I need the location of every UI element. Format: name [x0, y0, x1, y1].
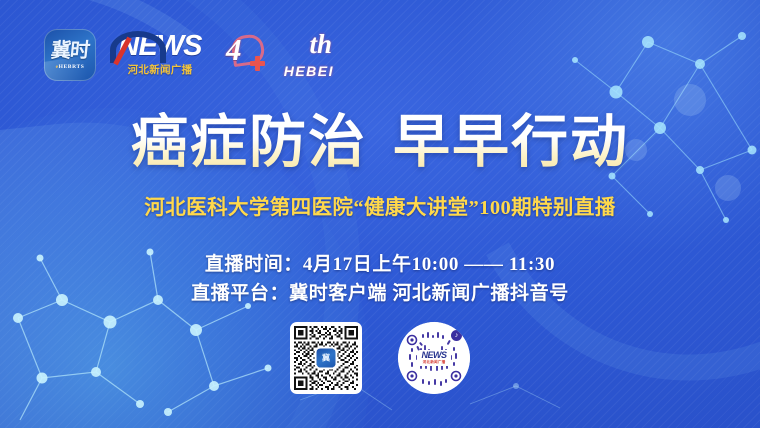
- douyin-qr-center-logo: NEWS 河北新闻广播: [417, 350, 451, 366]
- douyin-qr-code[interactable]: NEWS 河北新闻广播 ♪: [398, 322, 470, 394]
- jishi-logo: 冀时 eHEBRTS: [44, 29, 96, 81]
- fourth-hospital-logo: 4 th HEBEI: [224, 30, 336, 80]
- jishi-app-qr-code[interactable]: 冀: [290, 322, 362, 394]
- jishi-logo-en: eHEBRTS: [56, 64, 85, 70]
- broadcast-time-line: 直播时间：4月17日上午10:00 —— 11:30: [0, 250, 760, 279]
- qr-code-row: 冀: [0, 322, 760, 394]
- page-title-part2: 早早行动: [393, 110, 629, 174]
- hebei-logo-ordinal: th: [309, 31, 332, 58]
- douyin-qr-logo-main: NEWS: [422, 351, 447, 360]
- page-title: 癌症防治早早行动: [0, 112, 760, 172]
- logo-row: 冀时 eHEBRTS NEWS 河北新闻广播 4 th HEBEI: [44, 28, 336, 82]
- news-logo-subtitle: 河北新闻广播: [128, 62, 193, 77]
- jishi-logo-cn: 冀时: [50, 41, 90, 61]
- broadcast-info: 直播时间：4月17日上午10:00 —— 11:30 直播平台：冀时客户端 河北…: [0, 250, 760, 309]
- page-title-part1: 癌症防治: [131, 110, 367, 174]
- hebei-news-radio-logo: NEWS 河北新闻广播: [108, 30, 212, 80]
- music-note-icon: ♪: [451, 330, 462, 341]
- jishi-logo-en-prefix: e: [56, 64, 59, 70]
- broadcast-platform-line: 直播平台：冀时客户端 河北新闻广播抖音号: [0, 279, 760, 308]
- hebei-logo-en: HEBEI: [284, 63, 334, 79]
- qr-center-logo: 冀: [317, 349, 336, 368]
- poster-canvas: 冀时 eHEBRTS NEWS 河北新闻广播 4 th HEBEI 癌症防治早早…: [0, 0, 760, 428]
- douyin-qr-logo-sub: 河北新闻广播: [423, 361, 446, 365]
- medical-cross-icon: [250, 56, 265, 71]
- hebei-logo-numeral: 4: [226, 34, 242, 65]
- page-subtitle: 河北医科大学第四医院“健康大讲堂”100期特别直播: [0, 190, 760, 220]
- jishi-logo-en-text: HEBRTS: [59, 64, 85, 70]
